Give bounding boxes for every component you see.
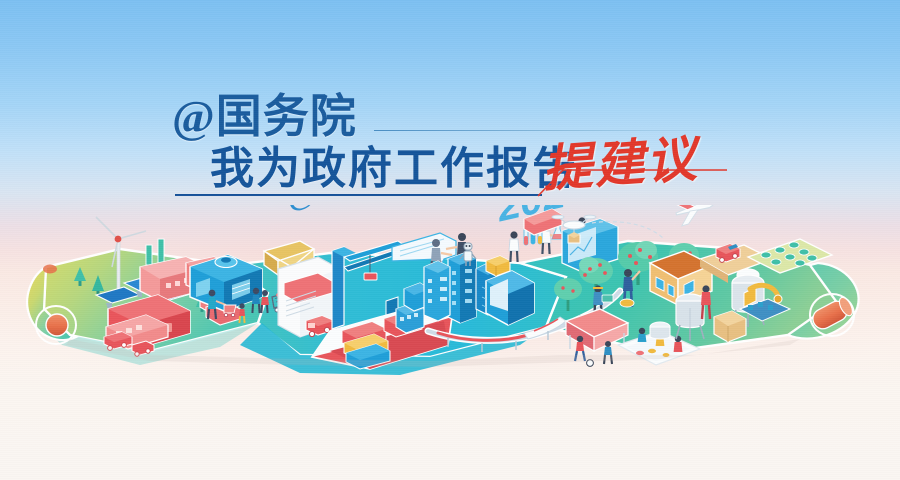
banner-poster: @	[0, 0, 900, 480]
title-line-main: 我为政府工作报告	[210, 132, 578, 196]
title-block: @国务院 我为政府工作报告 提建议	[172, 80, 732, 210]
title-blue-underline	[175, 194, 542, 196]
cargo-box	[714, 311, 746, 342]
title-red-accent-line	[537, 166, 727, 198]
isometric-illustration: @	[0, 205, 900, 395]
water-tower	[650, 322, 670, 339]
